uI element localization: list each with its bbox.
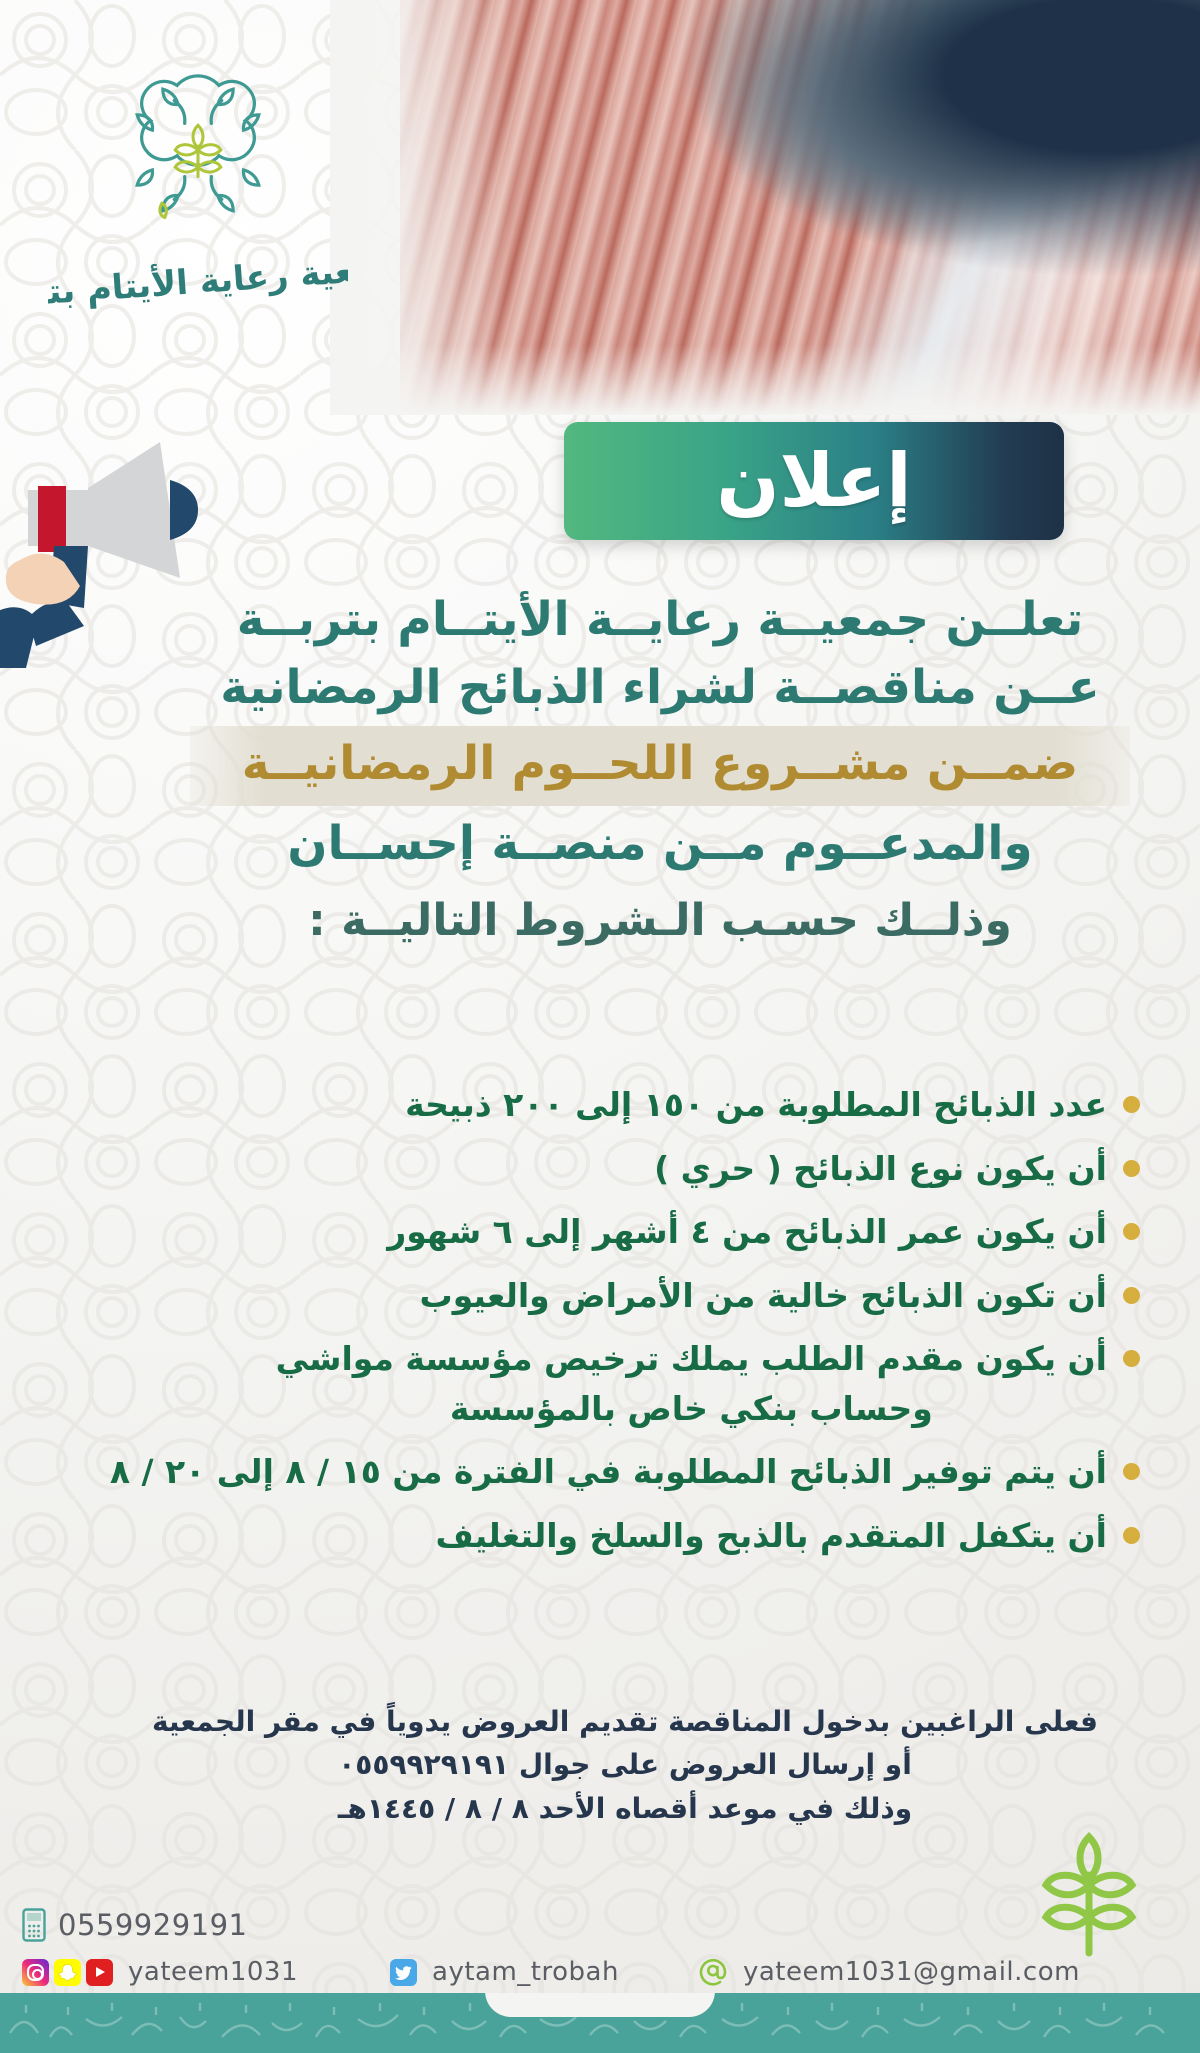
headline-line-3: والمدعــوم مــن منصــة إحســان (190, 810, 1130, 878)
instagram-icon[interactable] (22, 1959, 49, 1986)
bullet-dot-icon (1123, 1096, 1140, 1113)
phone-number[interactable]: 0559929191 (58, 1908, 248, 1942)
list-item: أن يكون نوع الذبائح ( حري ) (90, 1144, 1140, 1194)
list-item: أن يكون مقدم الطلب يملك ترخيص مؤسسة مواش… (90, 1334, 1140, 1433)
list-item: عدد الذبائح المطلوبة من ١٥٠ إلى ٢٠٠ ذبيح… (90, 1080, 1140, 1130)
list-item-text-continuation: وحساب بنكي خاص بالمؤسسة (276, 1384, 1107, 1434)
twitter-group: aytam_trobah (390, 1957, 619, 1987)
mobile-phone-icon (22, 1908, 46, 1942)
bullet-dot-icon (1123, 1463, 1140, 1480)
twitter-bird-icon[interactable] (390, 1959, 417, 1986)
footer-band (0, 1993, 1200, 2053)
conditions-list: عدد الذبائح المطلوبة من ١٥٠ إلى ٢٠٠ ذبيح… (90, 1080, 1140, 1574)
list-item-text: أن يكون مقدم الطلب يملك ترخيص مؤسسة مواش… (276, 1334, 1107, 1433)
list-item-text: أن يكون عمر الذبائح من ٤ أشهر إلى ٦ شهور (387, 1207, 1107, 1257)
announcement-title: إعلان (716, 444, 911, 518)
list-item-text-main: أن يكون مقدم الطلب يملك ترخيص مؤسسة مواش… (276, 1339, 1107, 1378)
headline-line-1: تعلــن جمعيــة رعايــة الأيتــام بتربــة (190, 586, 1130, 654)
bullet-dot-icon (1123, 1287, 1140, 1304)
closing-line-2: أو إرسال العروض على جوال ٠٥٥٩٩٢٩١٩١ (110, 1743, 1140, 1786)
at-sign-icon (697, 1955, 731, 1989)
closing-block: فعلى الراغبين بدخول المناقصة تقديم العرو… (110, 1700, 1140, 1830)
email-address[interactable]: yateem1031@gmail.com (743, 1957, 1080, 1987)
announcement-banner: إعلان (564, 422, 1064, 540)
list-item: أن يكون عمر الذبائح من ٤ أشهر إلى ٦ شهور (90, 1207, 1140, 1257)
bullet-dot-icon (1123, 1350, 1140, 1367)
list-item-text: أن يكون نوع الذبائح ( حري ) (654, 1144, 1107, 1194)
bullet-dot-icon (1123, 1527, 1140, 1544)
list-item: أن يتكفل المتقدم بالذبح والسلخ والتغليف (90, 1511, 1140, 1561)
list-item-text: أن يتكفل المتقدم بالذبح والسلخ والتغليف (436, 1511, 1108, 1561)
bullet-dot-icon (1123, 1160, 1140, 1177)
email-group: yateem1031@gmail.com (697, 1955, 1080, 1989)
closing-line-3: وذلك في موعد أقصاه الأحد ٨ / ٨ / ١٤٤٥هـ (110, 1787, 1140, 1830)
logo-wordmark-text: جمعية رعاية الأيتام بتربة (48, 249, 348, 311)
youtube-icon[interactable] (86, 1959, 113, 1986)
list-item-text: عدد الذبائح المطلوبة من ١٥٠ إلى ٢٠٠ ذبيح… (405, 1080, 1107, 1130)
conditions-title: وذلــك حسـب الـشروط التاليــة : (190, 895, 1130, 946)
bullet-dot-icon (1123, 1223, 1140, 1240)
headline-highlight: ضمــن مشــروع اللحــوم الرمضانيــة (190, 726, 1130, 806)
social-handle[interactable]: yateem1031 (128, 1957, 298, 1987)
organization-logo: جمعية رعاية الأيتام بتربة (48, 55, 348, 315)
contact-footer: 0559929191 yateem1031 aytam_trobah (0, 1908, 1200, 1989)
headline-block: تعلــن جمعيــة رعايــة الأيتــام بتربــة… (190, 586, 1130, 946)
poster-root: جمعية رعاية الأيتام بتربة إعلان تعلــن ج… (0, 0, 1200, 2053)
footer-notch (485, 1993, 715, 2017)
logo-wordmark: جمعية رعاية الأيتام بتربة (48, 249, 348, 311)
list-item: أن تكون الذبائح خالية من الأمراض والعيوب (90, 1271, 1140, 1321)
twitter-handle[interactable]: aytam_trobah (432, 1957, 619, 1987)
closing-line-1: فعلى الراغبين بدخول المناقصة تقديم العرو… (110, 1700, 1140, 1743)
list-item-text: أن يتم توفير الذبائح المطلوبة في الفترة … (110, 1447, 1107, 1497)
ornamental-wheat-emblem-icon (103, 55, 293, 245)
list-item-text: أن تكون الذبائح خالية من الأمراض والعيوب (420, 1271, 1107, 1321)
headline-line-2: عــن مناقصــة لشراء الذبائح الرمضانية (190, 654, 1130, 722)
snapchat-icon[interactable] (54, 1959, 81, 1986)
list-item: أن يتم توفير الذبائح المطلوبة في الفترة … (90, 1447, 1140, 1497)
social-handle-group: yateem1031 (22, 1957, 298, 1987)
